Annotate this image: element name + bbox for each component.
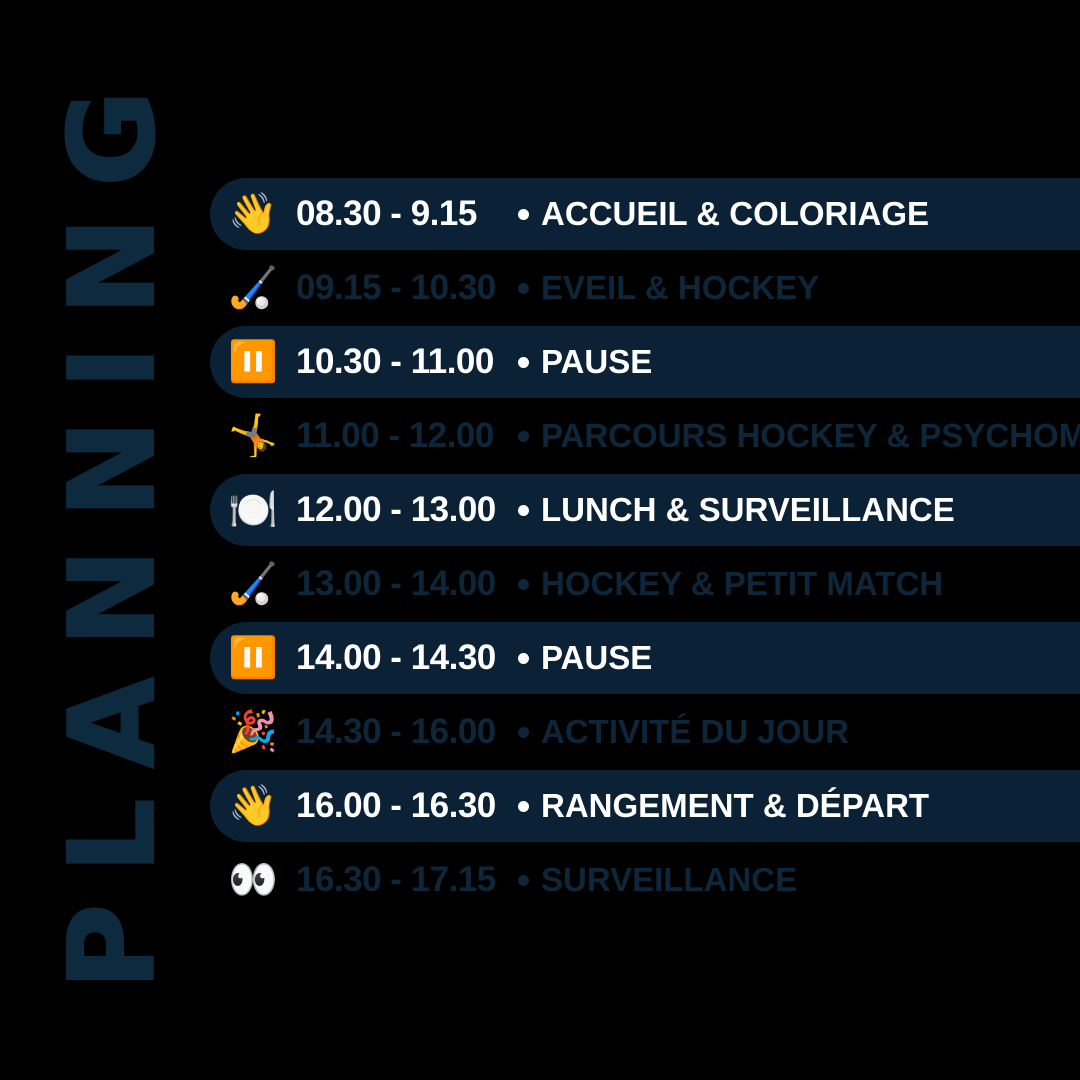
bullet-separator-icon: [518, 283, 541, 294]
schedule-row-time: 11.00 - 12.00: [296, 416, 518, 456]
bullet-separator-icon: [518, 875, 541, 886]
pause-button-emoji: ⏸️: [210, 342, 296, 382]
schedule-row-label: PARCOURS HOCKEY & PSYCHOMOT: [541, 417, 1080, 455]
pause-button-emoji: ⏸️: [210, 638, 296, 678]
schedule-row[interactable]: 🏑09.15 - 10.30EVEIL & HOCKEY: [210, 252, 1080, 324]
bullet-separator-icon: [518, 801, 541, 812]
eyes-emoji: 👀: [210, 860, 296, 900]
field-hockey-emoji: 🏑: [210, 564, 296, 604]
schedule-row-time: 10.30 - 11.00: [296, 342, 518, 382]
schedule-list: 👋08.30 - 9.15ACCUEIL & COLORIAGE🏑09.15 -…: [210, 178, 1080, 918]
bullet-separator-icon: [518, 505, 541, 516]
schedule-row-label: EVEIL & HOCKEY: [541, 269, 1080, 307]
planning-poster: PLANNING 👋08.30 - 9.15ACCUEIL & COLORIAG…: [0, 0, 1080, 1080]
party-popper-emoji: 🎉: [210, 712, 296, 752]
bullet-separator-icon: [518, 431, 541, 442]
schedule-row[interactable]: 🍽️12.00 - 13.00LUNCH & SURVEILLANCE: [210, 474, 1080, 546]
bullet-separator-icon: [518, 357, 541, 368]
schedule-row-label: LUNCH & SURVEILLANCE: [541, 491, 1080, 529]
schedule-row-label: PAUSE: [541, 343, 1080, 381]
schedule-row-label: ACCUEIL & COLORIAGE: [541, 195, 1080, 233]
schedule-row[interactable]: 👀16.30 - 17.15SURVEILLANCE: [210, 844, 1080, 916]
schedule-row[interactable]: 👋16.00 - 16.30RANGEMENT & DÉPART: [210, 770, 1080, 842]
schedule-row-label: HOCKEY & PETIT MATCH: [541, 565, 1080, 603]
planning-wordmark-text: PLANNING: [54, 60, 172, 1020]
schedule-row[interactable]: 👋08.30 - 9.15ACCUEIL & COLORIAGE: [210, 178, 1080, 250]
plate-cutlery-emoji: 🍽️: [210, 490, 296, 530]
schedule-row-time: 14.00 - 14.30: [296, 638, 518, 678]
schedule-row[interactable]: 🎉14.30 - 16.00ACTIVITÉ DU JOUR: [210, 696, 1080, 768]
schedule-row[interactable]: 🏑13.00 - 14.00HOCKEY & PETIT MATCH: [210, 548, 1080, 620]
schedule-row-time: 16.00 - 16.30: [296, 786, 518, 826]
schedule-row-label: ACTIVITÉ DU JOUR: [541, 713, 1080, 751]
schedule-row-label: PAUSE: [541, 639, 1080, 677]
schedule-row-time: 16.30 - 17.15: [296, 860, 518, 900]
bullet-separator-icon: [518, 209, 541, 220]
schedule-row-time: 09.15 - 10.30: [296, 268, 518, 308]
planning-wordmark: PLANNING: [0, 0, 225, 1080]
schedule-row-time: 13.00 - 14.00: [296, 564, 518, 604]
bullet-separator-icon: [518, 579, 541, 590]
field-hockey-emoji: 🏑: [210, 268, 296, 308]
schedule-row-label: RANGEMENT & DÉPART: [541, 787, 1080, 825]
schedule-row-label: SURVEILLANCE: [541, 861, 1080, 899]
bullet-separator-icon: [518, 653, 541, 664]
schedule-row[interactable]: ⏸️14.00 - 14.30PAUSE: [210, 622, 1080, 694]
schedule-row-time: 08.30 - 9.15: [296, 194, 518, 234]
schedule-row[interactable]: ⏸️10.30 - 11.00PAUSE: [210, 326, 1080, 398]
schedule-row-time: 14.30 - 16.00: [296, 712, 518, 752]
schedule-row[interactable]: 🤸11.00 - 12.00PARCOURS HOCKEY & PSYCHOMO…: [210, 400, 1080, 472]
schedule-row-time: 12.00 - 13.00: [296, 490, 518, 530]
waving-hand-emoji: 👋: [210, 786, 296, 826]
cartwheel-emoji: 🤸: [210, 416, 296, 456]
waving-hand-emoji: 👋: [210, 194, 296, 234]
bullet-separator-icon: [518, 727, 541, 738]
